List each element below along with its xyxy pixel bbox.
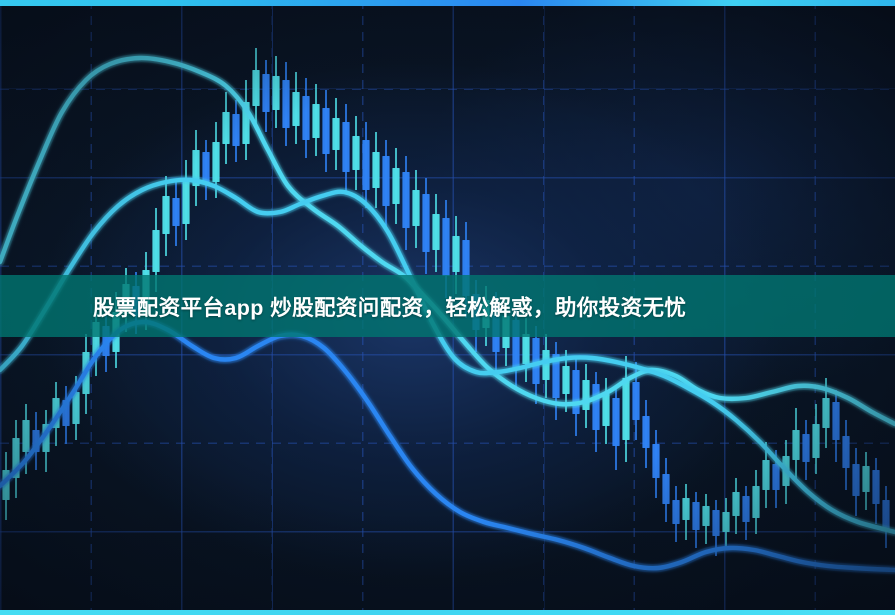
headline-text: 股票配资平台app 炒股配资问配资，轻松解惑，助你投资无忧 [93, 291, 686, 322]
bottom-accent-rule [0, 610, 895, 615]
chart-banner-image: 股票配资平台app 炒股配资问配资，轻松解惑，助你投资无忧 [0, 0, 895, 615]
headline-band: 股票配资平台app 炒股配资问配资，轻松解惑，助你投资无忧 [0, 275, 895, 337]
top-accent-rule [0, 0, 895, 6]
